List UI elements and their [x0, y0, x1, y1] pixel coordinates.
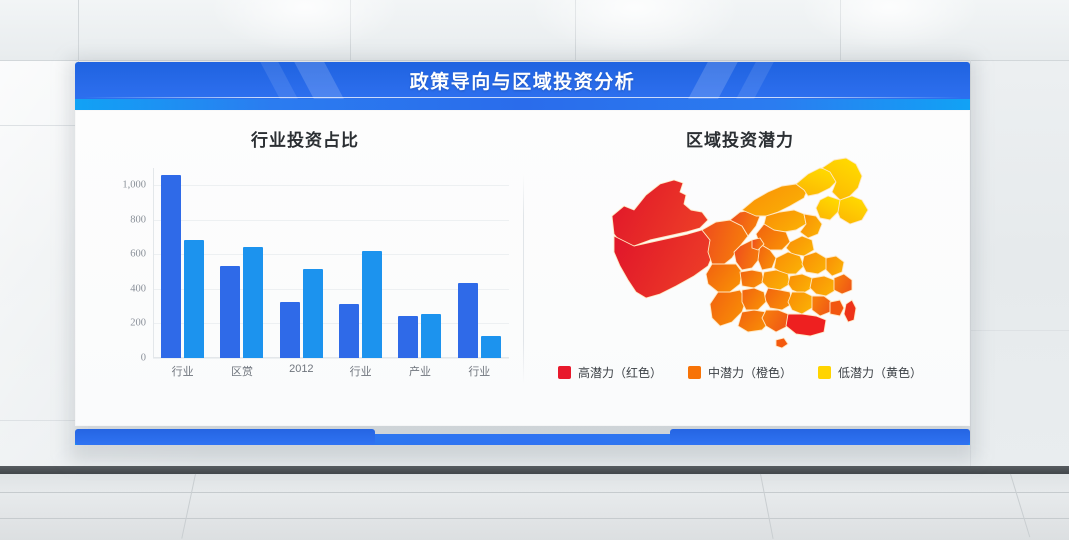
- chart-y-axis-tick: 400: [130, 283, 146, 294]
- wall-seam: [350, 0, 351, 60]
- legend-label: 中潜力（橙色）: [708, 364, 792, 381]
- chart-x-axis-label: 行业: [153, 363, 212, 379]
- chart-bar[interactable]: [220, 266, 240, 358]
- legend-label: 高潜力（红色）: [578, 364, 662, 381]
- chart-bar[interactable]: [458, 283, 478, 358]
- header-underline-band: [75, 99, 970, 110]
- chart-gridline: [153, 358, 509, 359]
- chart-y-axis-tick: 200: [130, 318, 146, 329]
- chart-bar-group[interactable]: 2012: [272, 168, 331, 358]
- floor-tile-line: [1010, 474, 1030, 537]
- chart-x-axis-label: 行业: [450, 363, 509, 379]
- chart-bar-group[interactable]: 行业: [331, 168, 390, 358]
- chart-bar[interactable]: [362, 251, 382, 358]
- chart-bar-group[interactable]: 区赏: [212, 168, 271, 358]
- chart-y-axis-tick: 600: [130, 249, 146, 260]
- chart-plot-area: 02004006008001,000行业区赏2012行业产业行业: [153, 168, 509, 358]
- legend-item[interactable]: 低潜力（黄色）: [818, 364, 922, 381]
- chart-x-axis-label: 2012: [272, 363, 331, 375]
- chart-bar-group[interactable]: 行业: [153, 168, 212, 358]
- china-map-svg: [590, 154, 890, 350]
- wall-seam: [0, 420, 75, 421]
- legend-item[interactable]: 高潜力（红色）: [558, 364, 662, 381]
- map-panel-title: 区域投资潜力: [530, 126, 950, 151]
- chart-bar[interactable]: [184, 240, 204, 358]
- board-footer: [75, 426, 970, 454]
- panel-divider: [523, 174, 524, 384]
- chart-x-axis-label: 行业: [331, 363, 390, 379]
- floor-surface: [0, 474, 1069, 540]
- chart-y-axis-tick: 0: [141, 353, 146, 364]
- chart-x-axis-label: 区赏: [212, 363, 271, 379]
- ceiling-panel: [0, 0, 1069, 60]
- wall-seam: [78, 0, 79, 60]
- wall-seam: [840, 0, 841, 60]
- legend-swatch: [688, 366, 701, 379]
- map-legend: 高潜力（红色）中潜力（橙色）低潜力（黄色）: [530, 360, 950, 384]
- legend-item[interactable]: 中潜力（橙色）: [688, 364, 792, 381]
- floor-tile-line: [0, 492, 1069, 493]
- chart-bar[interactable]: [161, 175, 181, 358]
- chart-bar[interactable]: [243, 247, 263, 358]
- board-title: 政策导向与区域投资分析: [75, 62, 970, 98]
- chart-y-axis-tick: 800: [130, 214, 146, 225]
- floor-tile-line: [760, 474, 774, 539]
- chart-x-axis-label: 产业: [390, 363, 449, 379]
- wall-seam: [575, 0, 576, 60]
- footer-end-cap-left: [75, 429, 375, 445]
- footer-end-cap-right: [670, 429, 970, 445]
- chart-bar[interactable]: [280, 302, 300, 358]
- chart-bar-group[interactable]: 产业: [390, 168, 449, 358]
- board-header: 政策导向与区域投资分析: [75, 62, 970, 110]
- chart-bar[interactable]: [303, 269, 323, 358]
- legend-swatch: [558, 366, 571, 379]
- wall-baseboard: [0, 466, 1069, 474]
- board-body: 行业投资占比 区域投资潜力 02004006008001,000行业区赏2012…: [75, 110, 970, 426]
- legend-swatch: [818, 366, 831, 379]
- legend-label: 低潜力（黄色）: [838, 364, 922, 381]
- chart-y-axis-tick: 1,000: [122, 180, 146, 191]
- chart-panel-title: 行业投资占比: [95, 126, 515, 151]
- chart-bar[interactable]: [398, 316, 418, 358]
- floor-tile-line: [181, 474, 196, 539]
- chart-bar[interactable]: [421, 314, 441, 358]
- chart-bar[interactable]: [339, 304, 359, 358]
- chart-bar[interactable]: [481, 336, 501, 358]
- industry-investment-bar-chart: 02004006008001,000行业区赏2012行业产业行业: [97, 162, 517, 384]
- floor-tile-line: [0, 518, 1069, 519]
- presentation-board: 政策导向与区域投资分析 行业投资占比 区域投资潜力 02004006008001…: [75, 62, 970, 454]
- china-investment-potential-map: [530, 154, 950, 354]
- wall-seam: [970, 330, 1069, 331]
- wall-seam: [0, 125, 78, 126]
- chart-bar-group[interactable]: 行业: [450, 168, 509, 358]
